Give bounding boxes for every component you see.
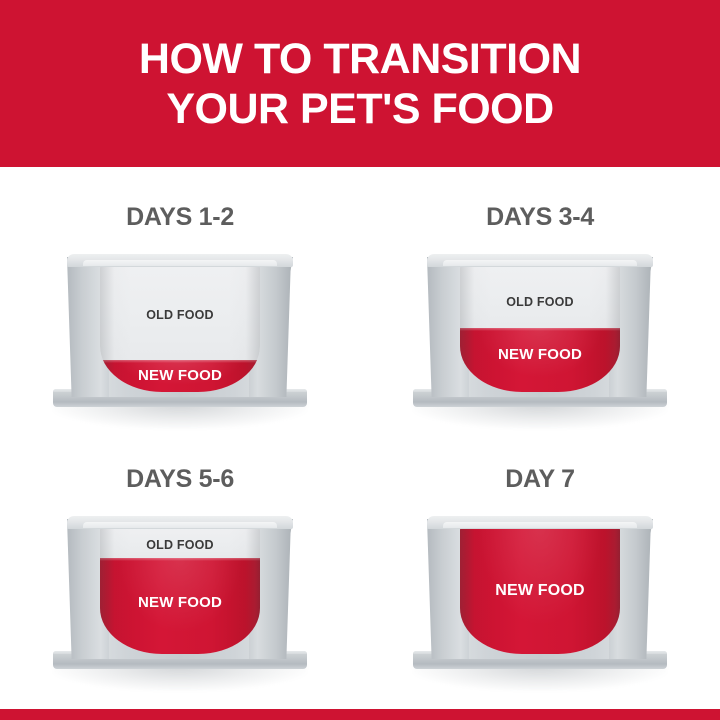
bowl-cavity: OLD FOOD NEW FOOD [460,264,620,392]
old-food-fill: OLD FOOD [100,264,260,360]
old-food-label: OLD FOOD [100,538,260,552]
transition-step-4: DAY 7 NEW FOOD [360,449,720,711]
bowl-cavity: OLD FOOD NEW FOOD [100,526,260,654]
bowl-rim-inner-edge [443,522,637,528]
old-food-fill: OLD FOOD [460,264,620,328]
footer-accent-strip [0,709,720,720]
old-food-fill: OLD FOOD [100,526,260,558]
new-food-label: NEW FOOD [100,594,260,611]
bowl-cavity: OLD FOOD NEW FOOD [100,264,260,392]
header-title-line-1: HOW TO TRANSITION [139,34,581,84]
bowl-rim-inner-edge [83,260,277,266]
step-title-days-5-6: DAYS 5-6 [0,465,360,494]
header-title-line-2: YOUR PET'S FOOD [166,84,553,134]
header-banner: HOW TO TRANSITION YOUR PET'S FOOD [0,0,720,167]
new-food-fill: NEW FOOD [100,360,260,392]
new-food-surface-highlight [100,558,260,561]
food-bowl-days-1-2: OLD FOOD NEW FOOD [45,249,315,434]
new-food-fill: NEW FOOD [460,328,620,392]
food-bowl-days-5-6: OLD FOOD NEW FOOD [45,511,315,696]
new-food-surface-highlight [100,360,260,363]
food-bowl-day-7: NEW FOOD [405,511,675,696]
step-title-day-7: DAY 7 [360,465,720,494]
old-food-label: OLD FOOD [460,295,620,309]
new-food-fill: NEW FOOD [100,558,260,654]
new-food-surface-highlight [460,328,620,331]
new-food-label: NEW FOOD [100,367,260,384]
transition-steps-grid: DAYS 1-2 OLD FOOD NEW FOOD DAY [0,167,720,709]
new-food-label: NEW FOOD [460,346,620,363]
transition-step-3: DAYS 5-6 OLD FOOD NEW FOOD [0,449,360,711]
bowl-rim-inner-edge [83,522,277,528]
new-food-label: NEW FOOD [460,582,620,600]
old-food-label: OLD FOOD [100,308,260,322]
step-title-days-3-4: DAYS 3-4 [360,203,720,232]
bowl-cavity: NEW FOOD [460,526,620,654]
bowl-rim-inner-edge [443,260,637,266]
transition-step-2: DAYS 3-4 OLD FOOD NEW FOOD [360,187,720,449]
step-title-days-1-2: DAYS 1-2 [0,203,360,232]
new-food-fill: NEW FOOD [460,526,620,654]
food-bowl-days-3-4: OLD FOOD NEW FOOD [405,249,675,434]
transition-step-1: DAYS 1-2 OLD FOOD NEW FOOD [0,187,360,449]
